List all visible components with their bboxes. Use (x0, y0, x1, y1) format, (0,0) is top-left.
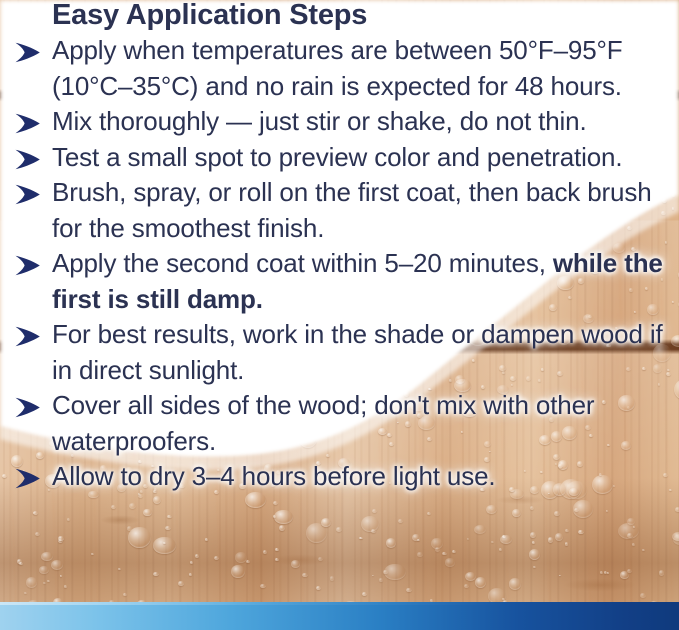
easy-application-steps-card: Easy Application Steps Apply when temper… (0, 0, 679, 630)
arrowhead-right-icon (14, 175, 52, 205)
page-title: Easy Application Steps (52, 0, 367, 32)
step-text: Apply the second coat within 5–20 minute… (52, 246, 679, 317)
step-text: Cover all sides of the wood; don't mix w… (52, 388, 679, 459)
step-item: Brush, spray, or roll on the first coat,… (14, 175, 679, 246)
arrowhead-right-icon (14, 317, 52, 347)
step-item: Apply the second coat within 5–20 minute… (14, 246, 679, 317)
step-item: For best results, work in the shade or d… (14, 317, 679, 388)
arrowhead-right-icon (14, 459, 52, 489)
step-item: Test a small spot to preview color and p… (14, 140, 679, 176)
step-text: Mix thoroughly — just stir or shake, do … (52, 104, 679, 140)
step-item: Allow to dry 3–4 hours before light use. (14, 459, 679, 495)
arrowhead-right-icon (14, 33, 52, 63)
arrowhead-right-icon (14, 246, 52, 276)
steps-list: Apply when temperatures are between 50°F… (14, 33, 679, 495)
step-text-emphasis: while the first is still damp. (52, 248, 663, 314)
step-text: Brush, spray, or roll on the first coat,… (52, 175, 679, 246)
step-item: Apply when temperatures are between 50°F… (14, 33, 679, 104)
step-text: For best results, work in the shade or d… (52, 317, 679, 388)
step-item: Cover all sides of the wood; don't mix w… (14, 388, 679, 459)
step-text: Apply when temperatures are between 50°F… (52, 33, 679, 104)
arrowhead-right-icon (14, 140, 52, 170)
step-text: Test a small spot to preview color and p… (52, 140, 679, 176)
arrowhead-right-icon (14, 388, 52, 418)
step-text: Allow to dry 3–4 hours before light use. (52, 459, 679, 495)
arrowhead-right-icon (14, 104, 52, 134)
card-content: Easy Application Steps Apply when temper… (0, 0, 679, 630)
step-item: Mix thoroughly — just stir or shake, do … (14, 104, 679, 140)
